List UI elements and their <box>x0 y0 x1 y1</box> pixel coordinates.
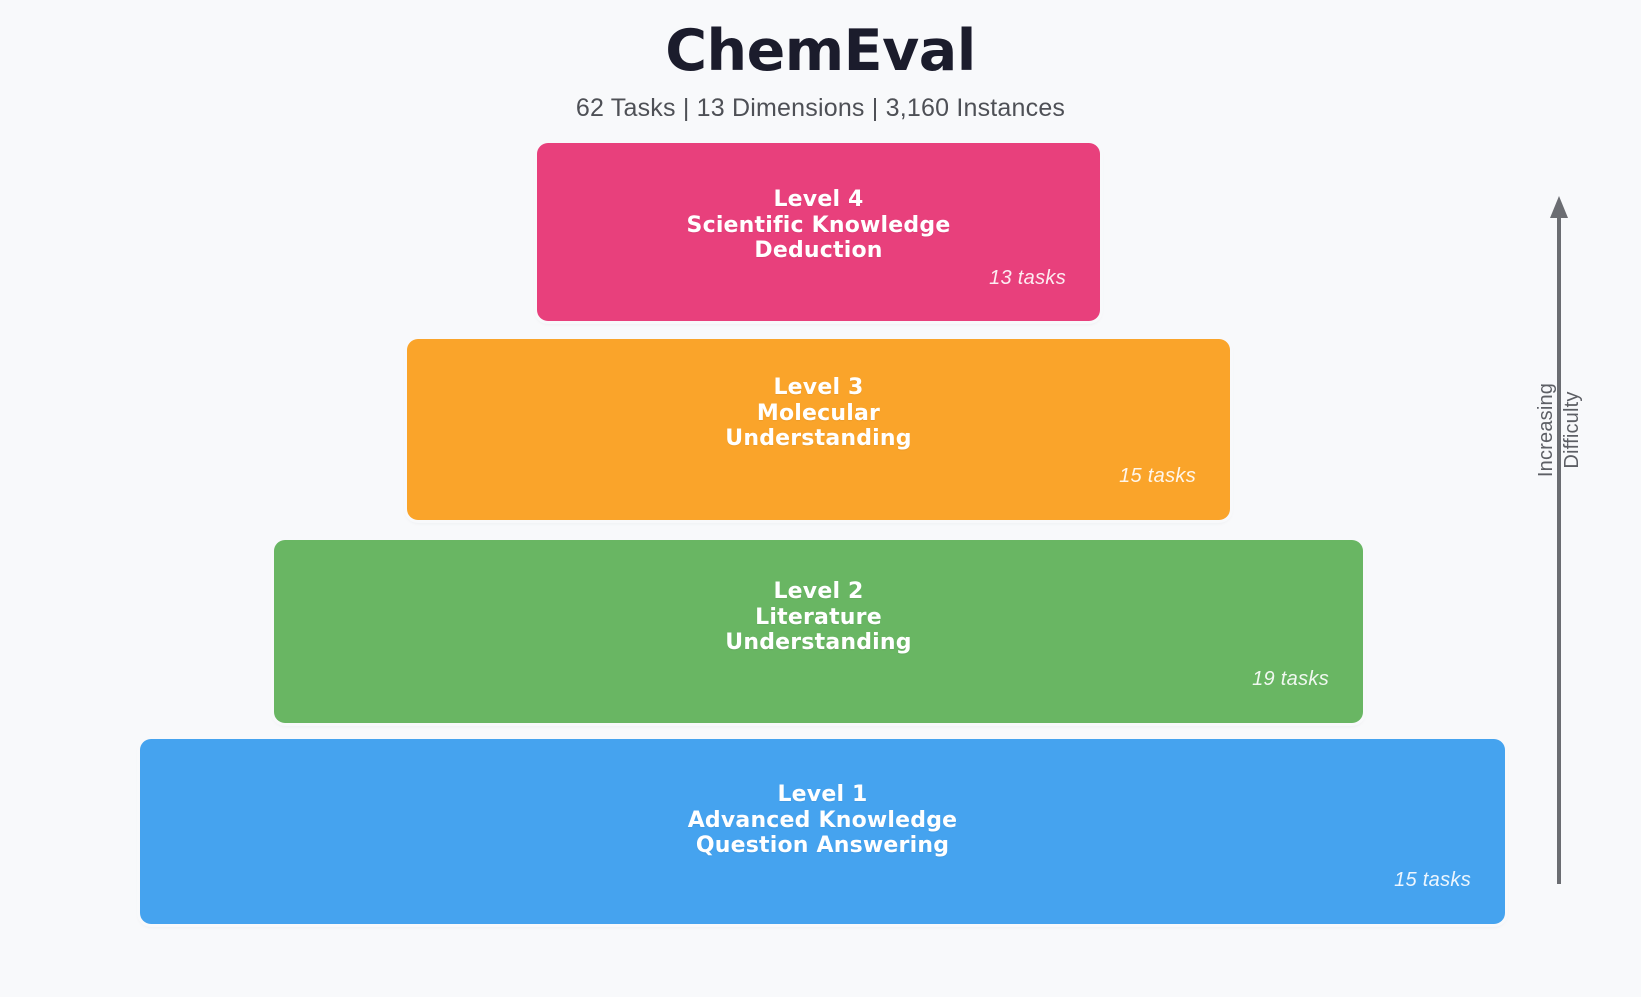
tier-task-count-level-1: 15 tasks <box>1394 869 1471 892</box>
pyramid-tier-level-3[interactable]: Level 3 Molecular Understanding 15 tasks <box>407 339 1230 520</box>
tier-label-level-1: Level 1 Advanced Knowledge Question Answ… <box>140 782 1505 859</box>
difficulty-axis-label: Increasing Difficulty <box>1534 330 1585 530</box>
pyramid-tier-level-2[interactable]: Level 2 Literature Understanding 19 task… <box>274 540 1363 723</box>
tier-label-level-4: Level 4 Scientific Knowledge Deduction <box>537 187 1100 264</box>
tier-label-level-3: Level 3 Molecular Understanding <box>407 375 1230 452</box>
pyramid-tier-level-1[interactable]: Level 1 Advanced Knowledge Question Answ… <box>140 739 1505 924</box>
tier-label-level-2: Level 2 Literature Understanding <box>274 579 1363 656</box>
tier-task-count-level-2: 19 tasks <box>1252 668 1329 691</box>
chemeval-pyramid-figure: ChemEval 62 Tasks | 13 Dimensions | 3,16… <box>0 0 1641 997</box>
arrow-up-icon <box>1528 190 1628 890</box>
difficulty-axis: Increasing Difficulty <box>1528 190 1628 890</box>
tier-task-count-level-3: 15 tasks <box>1119 465 1196 488</box>
tier-task-count-level-4: 13 tasks <box>989 267 1066 290</box>
pyramid-tier-level-4[interactable]: Level 4 Scientific Knowledge Deduction 1… <box>537 143 1100 321</box>
pyramid-chart: Level 4 Scientific Knowledge Deduction 1… <box>0 0 1641 997</box>
